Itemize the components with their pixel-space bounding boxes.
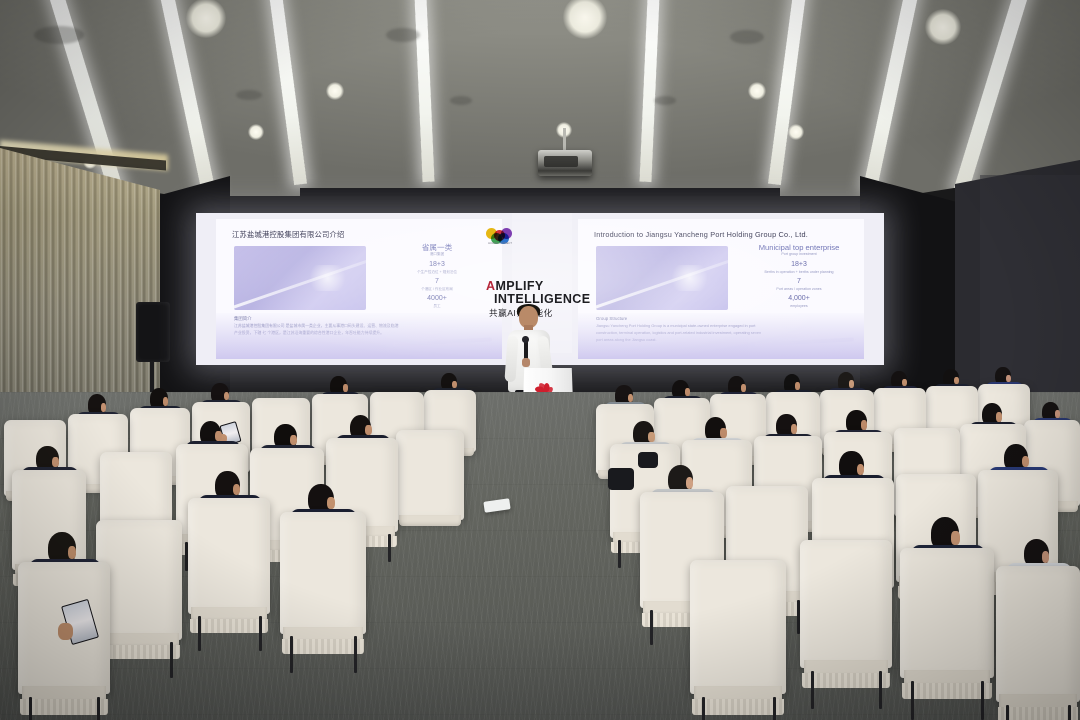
chair-with-cover (900, 548, 994, 678)
attendee-skin (857, 464, 864, 476)
ceiling-vent-3 (236, 90, 262, 100)
attendee-skin (452, 381, 457, 388)
chair-leg-1 (1068, 705, 1071, 720)
seat-l10 (396, 430, 464, 520)
stat-value-0: Municipal top enterprise (740, 243, 858, 252)
chair-leg-1 (879, 671, 882, 709)
slide-left-body-text: 江苏盐城港控股集团有限公司 是盐城市属一类企业，主要从事港口码头建设、运营、物流… (234, 323, 402, 337)
attendee-skin (686, 477, 694, 489)
attendee-skin (685, 388, 690, 396)
attendee-skin (327, 497, 335, 509)
microphone (524, 340, 528, 360)
ceiling-downlight-7 (788, 124, 804, 140)
stat-value-2: 7 (740, 278, 858, 286)
attendee-hand (58, 623, 73, 640)
chair-with-cover (690, 560, 786, 694)
chair-leg-1 (773, 697, 776, 720)
attendee-skin (290, 435, 297, 445)
loudspeaker-box (136, 302, 170, 362)
attendee-skin (365, 425, 371, 435)
chair-leg-1 (981, 681, 984, 720)
slide-left-stats: 省属一类 港口集团 18+3 个生产性泊位 + 规划泊位 7 个港区 / 作业区… (378, 243, 496, 312)
attendee-skin (1055, 410, 1060, 418)
attendee-skin (648, 432, 654, 442)
bag-on-floor-0 (608, 468, 634, 490)
slide-left-decorative-graphic (386, 326, 498, 356)
slide-left-chinese: 江苏盐城港控股集团有限公司介绍 省属一类 港口集团 18+3 个生产性泊位 + … (216, 219, 502, 359)
conference-room-photo: 江苏盐城港控股集团有限公司介绍 省属一类 港口集团 18+3 个生产性泊位 + … (0, 0, 1080, 720)
ceiling-downlight-4 (748, 82, 766, 100)
ceiling-light-strip-4 (639, 0, 660, 182)
attendee-skin (224, 392, 229, 400)
attendee-skin (101, 403, 106, 411)
stat-value-2: 7 (378, 278, 496, 286)
attendee-skin (791, 424, 797, 434)
stat-label-1: Berths in operation + berths under plann… (740, 270, 858, 275)
headline-line-1-rest: MPLIFY (495, 279, 543, 293)
slide-right-image (596, 246, 728, 310)
ceiling-vent-4 (450, 96, 472, 105)
ceiling-downlight-5 (248, 124, 264, 140)
presenter-hand (522, 358, 530, 367)
ceiling-vent-1 (386, 28, 420, 42)
stat-label-0: Port group investment (740, 252, 858, 257)
stat-value-3: 4,000+ (740, 295, 858, 303)
chair-leg-0 (618, 540, 621, 568)
ceiling-light-strip-2 (268, 0, 307, 185)
chair-leg-1 (354, 636, 357, 673)
slide-right-english: Introduction to Jiangsu Yancheng Port Ho… (578, 219, 864, 359)
ceiling-downlight-2 (925, 9, 961, 45)
chair-leg-0 (911, 681, 914, 720)
chair-leg-0 (650, 610, 653, 645)
chair-leg-0 (811, 671, 814, 709)
chair-with-cover (996, 566, 1080, 702)
stat-value-1: 18+3 (740, 261, 858, 269)
ceiling-light-strip-3 (414, 0, 435, 182)
slide-left-title: 江苏盐城港控股集团有限公司介绍 (232, 230, 344, 240)
stat-label-2: 个港区 / 作业区布局 (378, 287, 496, 292)
attendee-skin (343, 384, 348, 392)
seat-r3 (900, 548, 994, 678)
attendee-skin (954, 377, 959, 384)
slide-right-body-text: Jiangsu Yancheng Port Holding Group is a… (596, 323, 764, 343)
chair-leg-1 (259, 616, 262, 651)
chair-with-cover (800, 540, 892, 668)
ceiling-projector (538, 150, 592, 176)
stat-value-1: 18+3 (378, 261, 496, 269)
attendee-skin (163, 397, 168, 405)
stat-label-3: 员工 (378, 304, 496, 309)
chair-leg-1 (388, 534, 391, 562)
headline-line-2: INTELLIGENCE (494, 293, 604, 306)
chair-with-cover (188, 498, 270, 614)
attendee-skin (233, 484, 240, 496)
ceiling-downlight-3 (326, 82, 344, 100)
ceiling-light-strip-5 (768, 0, 807, 185)
logo-caption: HUAWEI CONNECT (482, 242, 518, 245)
attendee-skin (720, 428, 726, 438)
attendee-skin (215, 431, 221, 441)
chair-leg-0 (198, 616, 201, 651)
ceiling-downlight-1 (563, 0, 607, 39)
ceiling-light-strip-6 (863, 0, 920, 191)
slide-left-image (234, 246, 366, 310)
chair-leg-0 (290, 636, 293, 673)
bag-on-floor-1 (638, 452, 658, 468)
attendee-skin (1042, 551, 1050, 563)
ceiling-vent-5 (654, 96, 676, 105)
slide-right-stats: Municipal top enterprise Port group inve… (740, 243, 858, 312)
seat-r2 (800, 540, 892, 668)
stat-label-2: Port areas / operation zones (740, 287, 858, 292)
chair-with-cover (396, 430, 464, 520)
slide-left-body-heading: 集团简介 (234, 316, 252, 322)
attendee-skin (1022, 456, 1029, 467)
seat-r4 (996, 566, 1080, 702)
slide-right-title: Introduction to Jiangsu Yancheng Port Ho… (594, 230, 808, 239)
stat-value-3: 4000+ (378, 295, 496, 303)
attendee-skin (951, 531, 959, 544)
ceiling-vent-2 (730, 30, 764, 44)
ceiling-downlight-0 (186, 0, 226, 38)
ceiling-light-strip-7 (953, 0, 1030, 194)
slide-right-decorative-graphic (748, 326, 860, 356)
chair-with-cover (280, 512, 366, 634)
ceiling-vent-0 (34, 26, 84, 44)
attendee-skin (861, 420, 867, 430)
seat-l3 (188, 498, 270, 614)
attendee-skin (996, 412, 1002, 421)
seat-l4 (280, 512, 366, 634)
attendee-skin (68, 546, 76, 559)
attendee-skin (52, 457, 59, 467)
chair-leg-0 (702, 697, 705, 720)
attendee-skin (741, 384, 746, 392)
huawei-connect-circles-logo (486, 228, 512, 242)
stat-label-1: 个生产性泊位 + 规划泊位 (378, 270, 496, 275)
seat-r1 (690, 560, 786, 694)
chair-leg-0 (29, 697, 32, 720)
chair-leg-1 (170, 642, 173, 678)
stat-label-3: employees (740, 304, 858, 309)
stat-label-0: 港口集团 (378, 252, 496, 257)
attendee-skin (1006, 375, 1011, 382)
chair-leg-1 (97, 697, 100, 720)
attendee-skin (902, 379, 907, 386)
attendee-skin (628, 394, 633, 402)
chair-leg-0 (1006, 705, 1009, 720)
seat-l1 (18, 562, 110, 694)
